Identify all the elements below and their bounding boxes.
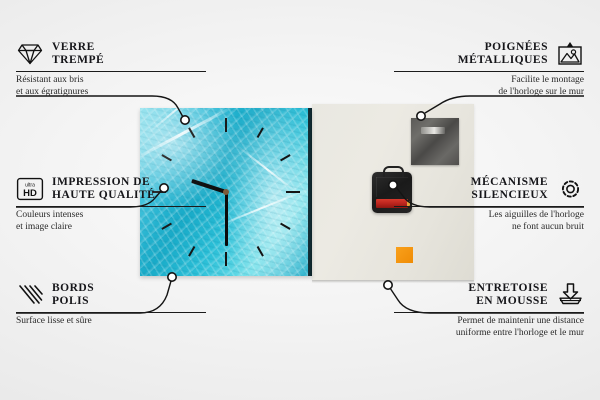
clock-edge bbox=[308, 108, 312, 276]
callout-header: ultra HD IMPRESSION DE HAUTE QUALITÉ bbox=[16, 175, 206, 203]
callout-title: IMPRESSION DE HAUTE QUALITÉ bbox=[52, 176, 155, 202]
callout-divider bbox=[394, 206, 584, 207]
callout-title: VERRE TREMPÉ bbox=[52, 41, 104, 67]
callout-title: MÉCANISME SILENCIEUX bbox=[471, 176, 548, 202]
callout-divider bbox=[394, 312, 584, 313]
callout-verre-trempe: VERRE TREMPÉ Résistant aux bris et aux é… bbox=[16, 40, 206, 98]
hands-center-cap bbox=[223, 189, 229, 195]
callout-description: Facilite le montage de l'horloge sur le … bbox=[394, 75, 584, 98]
callout-header: POIGNÉES MÉTALLIQUES bbox=[394, 40, 584, 68]
callout-header: ENTRETOISE EN MOUSSE bbox=[394, 281, 584, 309]
callout-description: Surface lisse et sûre bbox=[16, 316, 206, 328]
callout-impression-hd: ultra HD IMPRESSION DE HAUTE QUALITÉ Cou… bbox=[16, 175, 206, 233]
svg-text:HD: HD bbox=[23, 188, 37, 199]
callout-title: POIGNÉES MÉTALLIQUES bbox=[458, 41, 548, 67]
callout-header: BORDS POLIS bbox=[16, 281, 206, 309]
picture-frame-icon bbox=[556, 40, 584, 68]
gear-icon bbox=[556, 175, 584, 203]
foam-spacer-icon bbox=[556, 281, 584, 309]
callout-divider bbox=[16, 71, 206, 72]
hour-marker bbox=[225, 252, 227, 266]
hour-marker bbox=[225, 118, 227, 132]
callout-divider bbox=[394, 71, 584, 72]
foam-spacer-part bbox=[396, 247, 413, 263]
callout-description: Couleurs intenses et image claire bbox=[16, 210, 206, 233]
callout-mecanisme-silencieux: MÉCANISME SILENCIEUX Les aiguilles de l'… bbox=[394, 175, 584, 233]
callout-header: VERRE TREMPÉ bbox=[16, 40, 206, 68]
callout-description: Les aiguilles de l'horloge ne font aucun… bbox=[394, 210, 584, 233]
callout-title: ENTRETOISE EN MOUSSE bbox=[468, 282, 548, 308]
callout-description: Permet de maintenir une distance uniform… bbox=[394, 316, 584, 339]
hour-marker bbox=[286, 191, 300, 193]
ultra-hd-icon: ultra HD bbox=[16, 175, 44, 203]
callout-description: Résistant aux bris et aux égratignures bbox=[16, 75, 206, 98]
metal-hanger-plate bbox=[411, 118, 459, 165]
polished-edges-icon bbox=[16, 281, 44, 309]
callout-divider bbox=[16, 206, 206, 207]
callout-divider bbox=[16, 312, 206, 313]
callout-poignees-metalliques: POIGNÉES MÉTALLIQUES Facilite le montage… bbox=[394, 40, 584, 98]
callout-bords-polis: BORDS POLIS Surface lisse et sûre bbox=[16, 281, 206, 328]
callout-entretoise-mousse: ENTRETOISE EN MOUSSE Permet de maintenir… bbox=[394, 281, 584, 339]
diamond-icon bbox=[16, 40, 44, 68]
callout-header: MÉCANISME SILENCIEUX bbox=[394, 175, 584, 203]
minute-hand bbox=[225, 192, 228, 246]
callout-title: BORDS POLIS bbox=[52, 282, 94, 308]
infographic-canvas: VERRE TREMPÉ Résistant aux bris et aux é… bbox=[0, 0, 600, 400]
